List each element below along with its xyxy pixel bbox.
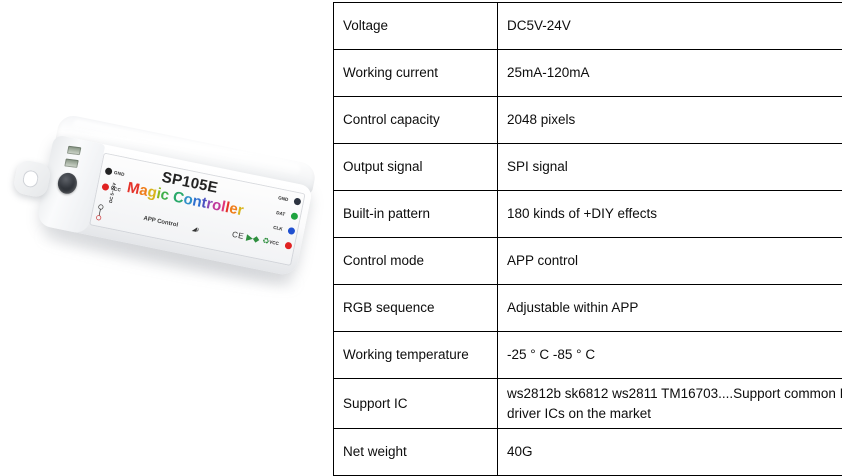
input-vcc-dot	[101, 183, 109, 191]
spec-key-cell: Voltage	[334, 3, 498, 50]
mounting-hole	[22, 169, 40, 189]
spec-value-cell: Adjustable within APP	[498, 285, 842, 332]
output-gnd-dot	[293, 197, 301, 205]
spec-key-cell: Control mode	[334, 238, 498, 285]
output-dat-label: DAT	[276, 210, 286, 217]
table-row: Support ICws2812b sk6812 ws2811 TM16703.…	[334, 379, 842, 429]
table-row: Working temperature-25 ° C -85 ° C	[334, 332, 842, 379]
output-dat-dot	[290, 212, 298, 220]
spec-key-cell: Working temperature	[334, 332, 498, 379]
spec-value-cell: 2048 pixels	[498, 97, 842, 144]
spec-value-cell: DC5V-24V	[498, 3, 842, 50]
spec-key-cell: Support IC	[334, 379, 498, 429]
certification-marks: CE ▶◆ ♻	[231, 230, 271, 247]
spec-key-cell: RGB sequence	[334, 285, 498, 332]
table-row: RGB sequenceAdjustable within APP	[334, 285, 842, 332]
table-row: Control modeAPP control	[334, 238, 842, 285]
dc-power-jack	[56, 171, 79, 195]
spec-value-cell: -25 ° C -85 ° C	[498, 332, 842, 379]
app-control-text: APP Control	[143, 216, 179, 229]
table-row: VoltageDC5V-24V	[334, 3, 842, 50]
spec-key-cell: Output signal	[334, 144, 498, 191]
table-row: Control capacity2048 pixels	[334, 97, 842, 144]
device-illustration: SP105E Magic Controller APP Control CE ▶…	[18, 132, 318, 322]
input-gnd-label: GND	[114, 170, 126, 177]
spec-value-cell: APP control	[498, 238, 842, 285]
wifi-signal-icon	[191, 225, 200, 234]
spec-key-cell: Built-in pattern	[334, 191, 498, 238]
mounting-loop	[12, 159, 52, 199]
table-row: Built-in pattern180 kinds of +DIY effect…	[334, 191, 842, 238]
output-vcc-label: VCC	[269, 239, 280, 246]
input-voltage-print: DC 5~24V	[108, 182, 117, 203]
output-clk-label: CLK	[273, 225, 283, 232]
spec-key-cell: Working current	[334, 50, 498, 97]
input-gnd-dot	[105, 167, 113, 175]
spec-value-cell: SPI signal	[498, 144, 842, 191]
terminal-slot-upper	[67, 146, 82, 156]
terminal-slot-lower	[64, 158, 79, 168]
specification-table: VoltageDC5V-24VWorking current25mA-120mA…	[333, 2, 842, 476]
spec-value-cell: 180 kinds of +DIY effects	[498, 191, 842, 238]
specification-table-body: VoltageDC5V-24VWorking current25mA-120mA…	[334, 3, 842, 476]
spec-value-cell: ws2812b sk6812 ws2811 TM16703....Support…	[498, 379, 842, 429]
ce-mark: CE	[231, 230, 245, 241]
output-clk-dot	[287, 227, 295, 235]
spec-key-cell: Net weight	[334, 429, 498, 476]
product-photo: SP105E Magic Controller APP Control CE ▶…	[0, 0, 333, 461]
polarity-symbol-icon	[94, 202, 106, 223]
table-row: Net weight40G	[334, 429, 842, 476]
spec-value-cell: 40G	[498, 429, 842, 476]
sp105e-controller: SP105E Magic Controller APP Control CE ▶…	[36, 113, 317, 285]
spec-key-cell: Control capacity	[334, 97, 498, 144]
output-gnd-label: GND	[278, 195, 289, 202]
table-row: Output signalSPI signal	[334, 144, 842, 191]
table-row: Working current25mA-120mA	[334, 50, 842, 97]
output-vcc-dot	[284, 242, 292, 250]
rohs-mark: ▶◆	[246, 233, 261, 244]
spec-value-cell: 25mA-120mA	[498, 50, 842, 97]
